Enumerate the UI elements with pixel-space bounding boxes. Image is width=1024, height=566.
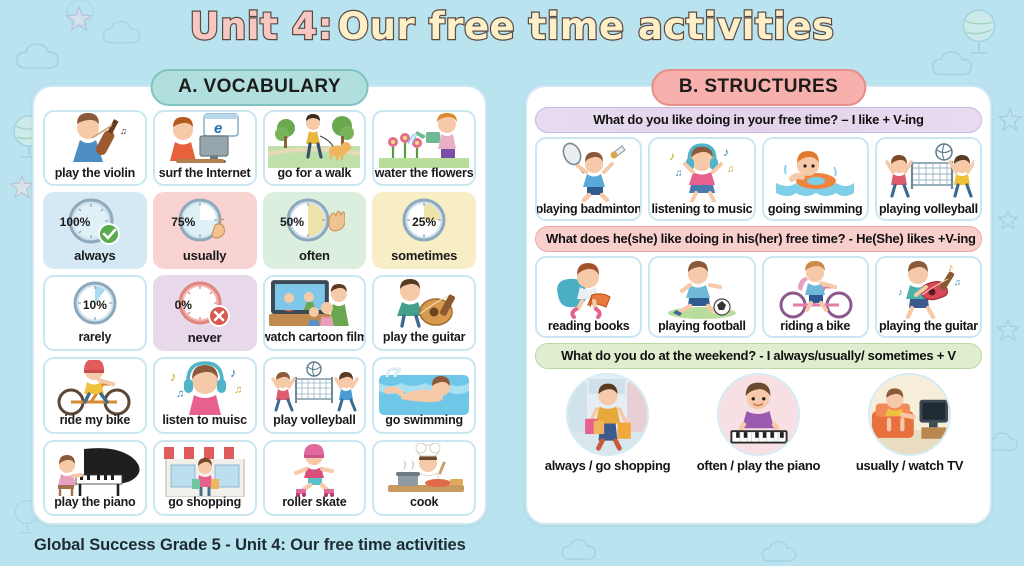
page-title: Unit 4: Our free time activities (0, 6, 1024, 49)
svg-text:e: e (214, 120, 222, 137)
clock-icon: 0% (157, 280, 253, 330)
computer-icon: e (157, 115, 253, 166)
structure-card-label: riding a bike (780, 319, 850, 334)
structure-card[interactable]: playing badminton (535, 137, 642, 221)
clock-icon: 25% (376, 197, 472, 247)
shopping-circle-icon (566, 373, 649, 456)
skate-icon (267, 445, 363, 496)
clock-icon: 75% (157, 197, 253, 247)
headphones-icon: ♪♫♪♫ (157, 362, 253, 413)
svg-text:♫: ♫ (120, 126, 127, 136)
vocab-card-label: sometimes (390, 248, 458, 265)
structure-card[interactable]: ♪♫♪♫ listening to music (648, 137, 755, 221)
violin-icon: ♪♫ (47, 115, 143, 166)
structure-card-label: listening to music (651, 202, 752, 217)
football-icon (651, 261, 752, 319)
vocab-card-label: listen to muisc (161, 413, 248, 430)
cloud-icon (760, 540, 810, 566)
star-icon (996, 318, 1020, 342)
walking-dog-icon (267, 115, 363, 166)
svg-text:♫: ♫ (234, 384, 242, 396)
structure-block: What do you like doing in your free time… (535, 107, 982, 221)
vocabulary-grid: ♪♫ play the violin e surf the Internet g… (43, 110, 476, 516)
vocab-card-label: always (73, 248, 116, 265)
structures-panel: B. STRUCTURES What do you like doing in … (525, 85, 992, 525)
structure-card[interactable]: always / go shopping (535, 373, 680, 473)
vocab-card[interactable]: go swimming (372, 357, 476, 433)
clock-icon: 100% (47, 197, 143, 247)
clock-icon: 10% (47, 280, 143, 331)
vocab-card-label: go shopping (167, 495, 242, 512)
cloud-icon (560, 538, 610, 564)
cloud-icon (930, 50, 988, 80)
volleyball-net-icon (878, 142, 979, 202)
structure-card-label: reading books (548, 319, 630, 334)
vocabulary-heading: A. VOCABULARY (150, 69, 369, 106)
structures-body: What do you like doing in your free time… (535, 107, 982, 517)
footer-text: Global Success Grade 5 - Unit 4: Our fre… (34, 536, 466, 555)
svg-text:♪: ♪ (111, 117, 117, 129)
vocab-card-label: usually (182, 248, 227, 265)
vocab-card[interactable]: ride my bike (43, 357, 147, 433)
vocab-card-label: watch cartoon film (263, 330, 367, 347)
clock-percent: 100% (53, 215, 97, 229)
structure-banner: What does he(she) like doing in his(her)… (535, 226, 982, 252)
vocab-card[interactable]: roller skate (263, 440, 367, 516)
structure-card-label: playing the guitar (879, 319, 978, 334)
reading-icon (538, 261, 639, 319)
vocab-card-label: rarely (77, 330, 112, 347)
structure-card[interactable]: riding a bike (762, 256, 869, 338)
vocab-card-label: roller skate (281, 495, 347, 512)
star-icon (998, 108, 1022, 132)
svg-text:♫: ♫ (675, 168, 683, 179)
vocab-card[interactable]: go shopping (153, 440, 257, 516)
shop-icon (157, 445, 253, 496)
vocab-card[interactable]: 100% always (43, 192, 147, 268)
vocab-card[interactable]: play the piano (43, 440, 147, 516)
vocab-card[interactable]: e surf the Internet (153, 110, 257, 186)
structures-heading: B. STRUCTURES (651, 69, 866, 106)
structure-card-label: going swimming (768, 202, 862, 217)
star-icon (10, 175, 34, 199)
watering-icon (376, 115, 472, 166)
vocab-card-label: play the piano (53, 495, 136, 512)
vocab-card-label: never (187, 330, 223, 347)
vocab-card-label: cook (409, 495, 439, 512)
vocab-card-label: play the guitar (382, 330, 466, 347)
clock-percent: 0% (162, 298, 205, 312)
vocab-card[interactable]: 10% rarely (43, 275, 147, 351)
structure-card[interactable]: ♪♫♪ playing the guitar (875, 256, 982, 338)
vocab-card-label: play the violin (54, 166, 136, 183)
vocab-card[interactable]: watch cartoon film (263, 275, 367, 351)
structure-card[interactable]: playing football (648, 256, 755, 338)
vocab-card[interactable]: 75% usually (153, 192, 257, 268)
vocab-card-label: often (298, 248, 331, 265)
guitar-icon (376, 280, 472, 331)
vocab-card[interactable]: go for a walk (263, 110, 367, 186)
structure-card-label: always / go shopping (545, 458, 670, 473)
svg-text:♪: ♪ (948, 262, 954, 274)
vocab-card-label: play volleyball (272, 413, 356, 430)
structure-block: What does he(she) like doing in his(her)… (535, 226, 982, 338)
structure-card[interactable]: reading books (535, 256, 642, 338)
structure-card-label: usually / watch TV (856, 458, 963, 473)
tv-circle-icon (868, 373, 951, 456)
structure-card-label: playing football (658, 319, 746, 334)
svg-text:♪: ♪ (170, 369, 177, 384)
vocab-card-label: go swimming (384, 413, 464, 430)
vocab-card-label: surf the Internet (158, 166, 252, 183)
structure-banner: What do you like doing in your free time… (535, 107, 982, 133)
piano-icon (47, 445, 143, 496)
clock-percent: 75% (162, 215, 205, 229)
structure-card[interactable]: usually / watch TV (837, 373, 982, 473)
svg-text:♪: ♪ (669, 149, 675, 163)
guitar-boy-icon: ♪♫♪ (878, 261, 979, 319)
structure-card[interactable]: going swimming (762, 137, 869, 221)
bicycle-icon (47, 362, 143, 413)
vocab-card[interactable]: ♪♫♪♫ listen to muisc (153, 357, 257, 433)
structure-card-row: always / go shopping often / play the pi… (535, 373, 982, 473)
vocab-card-label: ride my bike (59, 413, 132, 430)
structure-banner: What do you do at the weekend? - I alway… (535, 343, 982, 369)
badminton-icon (538, 142, 639, 202)
structure-card-label: often / play the piano (697, 458, 820, 473)
vocab-card-label: water the flowers (374, 166, 475, 183)
star-icon (998, 210, 1018, 230)
bike-girl-icon (765, 261, 866, 319)
vocab-card-label: go for a walk (276, 166, 352, 183)
vocabulary-panel: A. VOCABULARY ♪♫ play the violin e surf … (32, 85, 487, 525)
vocab-card[interactable]: 25% sometimes (372, 192, 476, 268)
svg-text:♪: ♪ (898, 287, 903, 297)
swimming-icon (376, 362, 472, 413)
volleyball-icon (267, 362, 363, 413)
piano-circle-icon (717, 373, 800, 456)
svg-text:♫: ♫ (176, 388, 184, 400)
tv-family-icon (267, 280, 363, 331)
vocab-card[interactable]: cook (372, 440, 476, 516)
vocab-card[interactable]: 0% never (153, 275, 257, 351)
svg-text:♪: ♪ (230, 365, 237, 380)
cooking-icon (376, 445, 472, 496)
svg-text:♪: ♪ (723, 145, 729, 159)
clock-icon: 50% (267, 197, 363, 247)
clock-percent: 50% (271, 215, 314, 229)
vocab-card[interactable]: ♪♫ play the violin (43, 110, 147, 186)
svg-text:♫: ♫ (727, 164, 735, 175)
structure-card-row: reading books playing football riding a … (535, 256, 982, 338)
title-part-unit: Unit 4: (190, 6, 334, 49)
structure-card-label: playing badminton (536, 202, 642, 217)
structure-block: What do you do at the weekend? - I alway… (535, 343, 982, 473)
structure-card[interactable]: playing volleyball (875, 137, 982, 221)
structure-card-row: playing badminton ♪♫♪♫ listening to musi… (535, 137, 982, 221)
structure-card[interactable]: often / play the piano (686, 373, 831, 473)
vocab-card[interactable]: water the flowers (372, 110, 476, 186)
vocab-card[interactable]: 50% often (263, 192, 367, 268)
vocab-card[interactable]: play the guitar (372, 275, 476, 351)
vocab-card[interactable]: play volleyball (263, 357, 367, 433)
clock-percent: 10% (47, 298, 143, 312)
svg-text:♫: ♫ (954, 277, 961, 287)
swim-ring-icon (765, 142, 866, 202)
clock-percent: 25% (376, 215, 472, 229)
structure-card-label: playing volleyball (879, 202, 978, 217)
title-part-subject: Our free time activities (338, 6, 835, 49)
music-girl-icon: ♪♫♪♫ (651, 142, 752, 202)
